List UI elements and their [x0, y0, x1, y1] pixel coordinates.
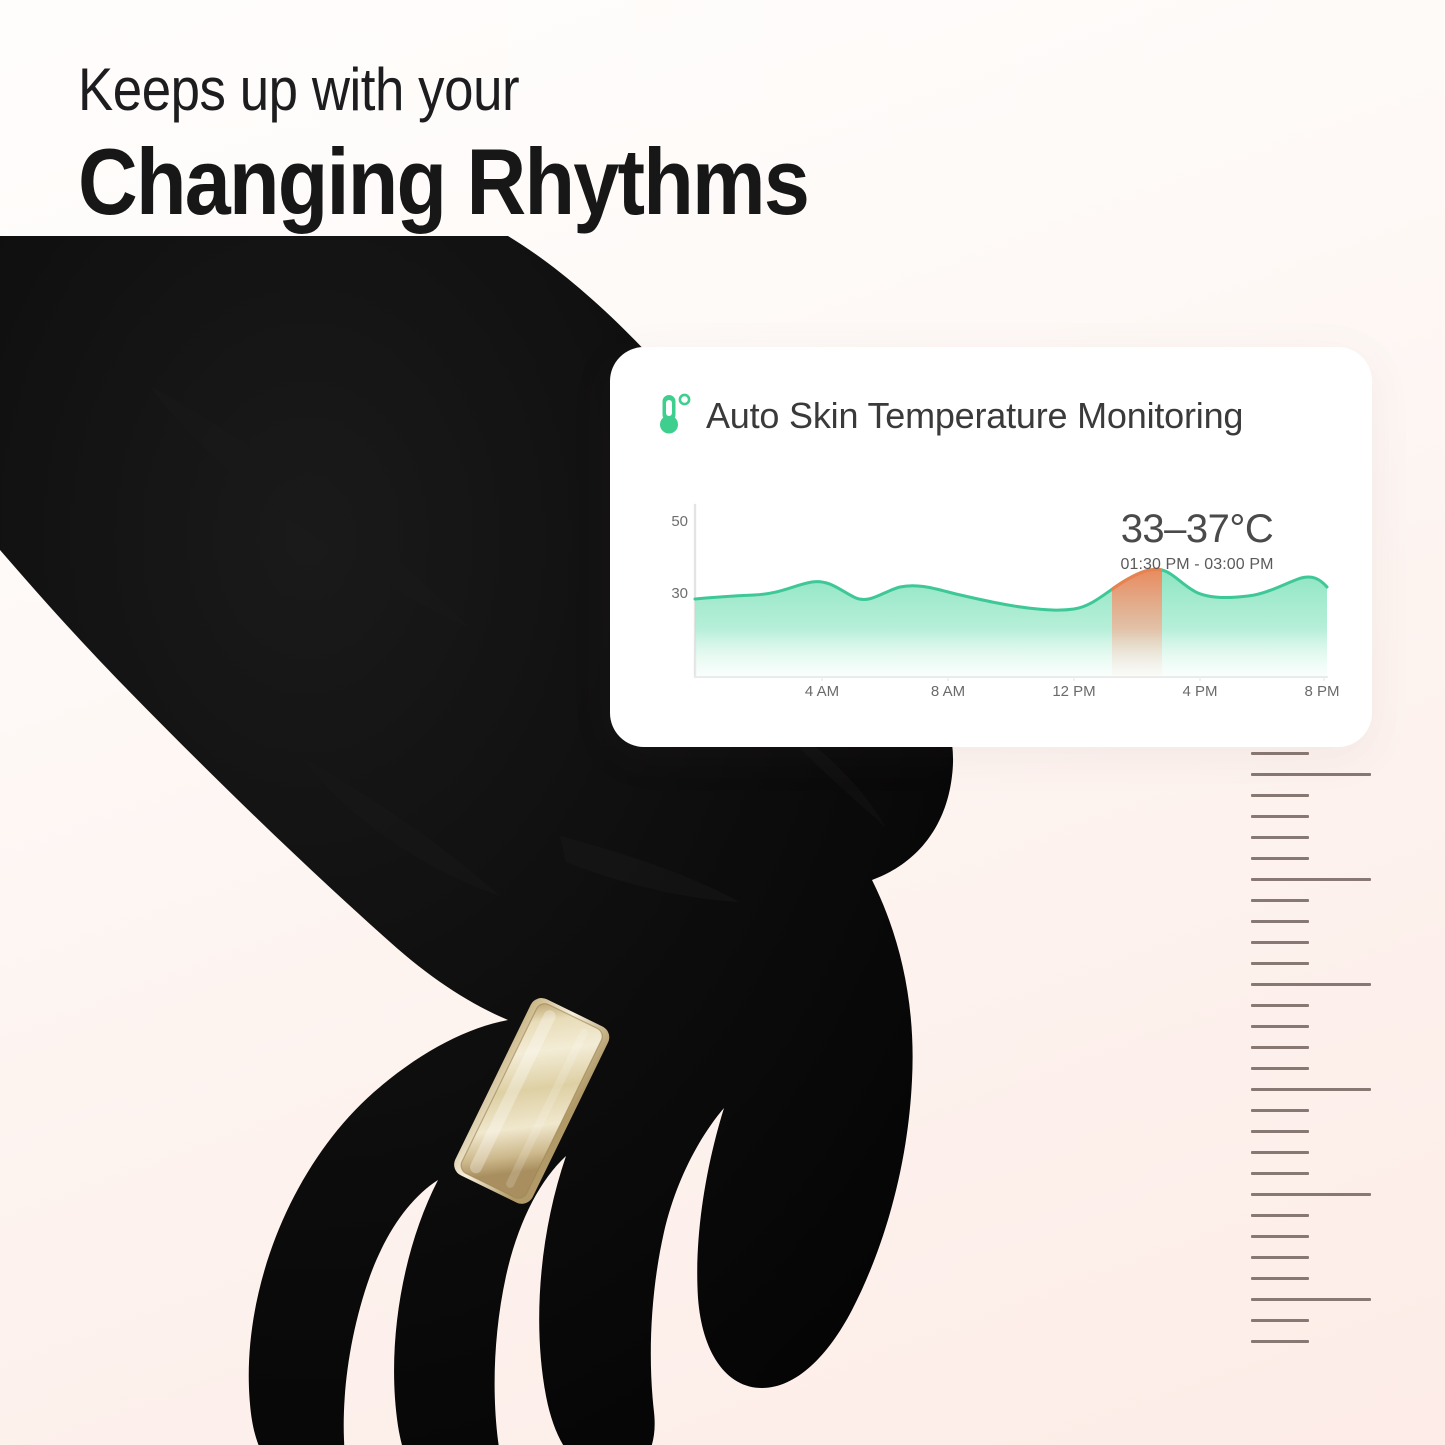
- ruler-tick-minor: [1251, 1109, 1309, 1112]
- ruler-tick-minor: [1251, 899, 1309, 902]
- ruler-tick-minor: [1251, 1340, 1309, 1343]
- ruler-tick-minor: [1251, 794, 1309, 797]
- annotation-range-value: 33–37°C: [1097, 509, 1297, 549]
- ruler-tick-minor: [1251, 752, 1309, 755]
- ruler-tick-major: [1251, 1298, 1371, 1301]
- ruler-tick-minor: [1251, 836, 1309, 839]
- ruler-tick-minor: [1251, 1235, 1309, 1238]
- ruler-tick-major: [1251, 1088, 1371, 1091]
- ruler-tick-major: [1251, 983, 1371, 986]
- area-fill-green: [695, 569, 1327, 677]
- x-axis-tick-4: 8 PM: [1304, 683, 1339, 700]
- ruler-tick-minor: [1251, 1151, 1309, 1154]
- card-header: Auto Skin Temperature Monitoring: [658, 395, 1243, 437]
- annotation-time-range: 01:30 PM - 03:00 PM: [1097, 556, 1297, 574]
- ruler-tick-minor: [1251, 920, 1309, 923]
- ruler-tick-major: [1251, 878, 1371, 881]
- ruler-tick-minor: [1251, 1025, 1309, 1028]
- x-axis-tick-3: 4 PM: [1182, 683, 1217, 700]
- x-axis-tick-2: 12 PM: [1052, 683, 1095, 700]
- ruler-tick-minor: [1251, 815, 1309, 818]
- ruler-tick-minor: [1251, 941, 1309, 944]
- headline-block: Keeps up with your Changing Rhythms: [78, 58, 1178, 233]
- ruler-tick-minor: [1251, 1256, 1309, 1259]
- temperature-annotation: 33–37°C 01:30 PM - 03:00 PM: [1097, 509, 1297, 574]
- headline-subtitle: Keeps up with your: [78, 58, 1046, 121]
- promo-page: Keeps up with your Changing Rhythms: [0, 0, 1445, 1445]
- ruler-tick-major: [1251, 1193, 1371, 1196]
- card-title: Auto Skin Temperature Monitoring: [706, 395, 1243, 437]
- ruler-tick-minor: [1251, 1130, 1309, 1133]
- ruler-tick-minor: [1251, 1046, 1309, 1049]
- ruler-decoration: [1251, 752, 1376, 1362]
- y-axis-tick-50: 50: [654, 513, 688, 530]
- x-axis-tick-0: 4 AM: [805, 683, 839, 700]
- ruler-tick-minor: [1251, 857, 1309, 860]
- ruler-tick-major: [1251, 773, 1371, 776]
- ruler-tick-minor: [1251, 1067, 1309, 1070]
- thermometer-icon: [658, 393, 692, 435]
- smart-ring: [450, 994, 613, 1208]
- ruler-tick-minor: [1251, 962, 1309, 965]
- ruler-tick-minor: [1251, 1172, 1309, 1175]
- ruler-tick-minor: [1251, 1004, 1309, 1007]
- ruler-tick-minor: [1251, 1214, 1309, 1217]
- y-axis-tick-30: 30: [654, 585, 688, 602]
- page-title: Changing Rhythms: [78, 131, 1046, 233]
- x-axis-tick-1: 8 AM: [931, 683, 965, 700]
- ruler-tick-minor: [1251, 1277, 1309, 1280]
- ruler-tick-minor: [1251, 1319, 1309, 1322]
